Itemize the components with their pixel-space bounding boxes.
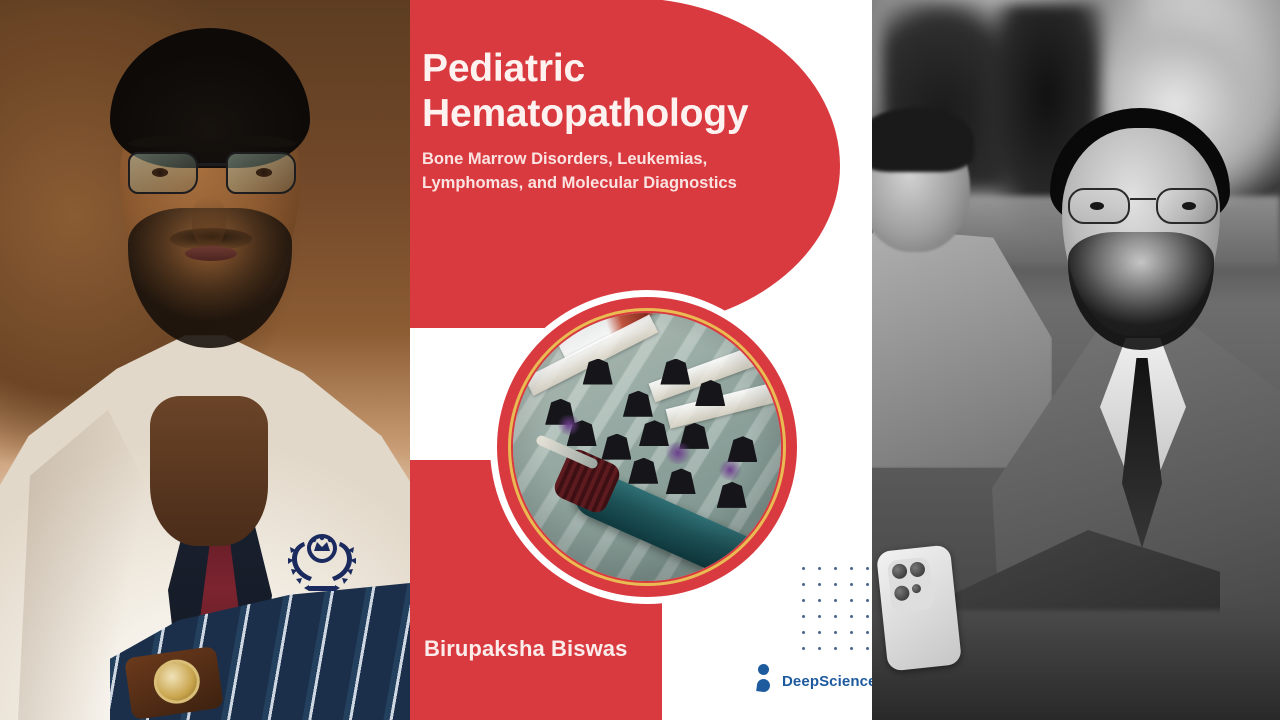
publisher-name: DeepScience: [782, 673, 876, 690]
glasses-bridge: [1130, 198, 1156, 200]
author-portrait-photo: [0, 0, 410, 720]
decorative-dot-grid: [795, 560, 875, 656]
publisher-logo: DeepScience: [757, 664, 876, 698]
nose: [192, 196, 226, 250]
eye-left: [1090, 202, 1104, 210]
collage-banner: Pediatric Hematopathology Bone Marrow Di…: [0, 0, 1280, 720]
book-subtitle: Bone Marrow Disorders, Leukemias, Lympho…: [422, 148, 794, 195]
neck: [150, 396, 268, 546]
cover-circular-image-frame: [497, 297, 797, 597]
book-subtitle-line-1: Bone Marrow Disorders, Leukemias,: [422, 148, 794, 171]
eyeglasses: [126, 152, 298, 196]
book-title-line-1: Pediatric: [422, 46, 794, 91]
deepscience-mark-icon: [757, 664, 773, 698]
second-man-hair: [872, 108, 974, 172]
book-subtitle-line-2: Lymphomas, and Molecular Diagnostics: [422, 172, 794, 195]
logo-comma-icon: [756, 678, 771, 693]
glasses-bridge: [198, 163, 228, 166]
eye-left: [152, 168, 168, 177]
book-author-name: Birupaksha Biswas: [424, 636, 627, 662]
author-conference-photo: [872, 0, 1280, 720]
image-vignette: [513, 313, 781, 581]
cover-circular-image: [513, 313, 781, 581]
cover-title-block: Pediatric Hematopathology Bone Marrow Di…: [422, 46, 794, 195]
wristwatch: [124, 646, 224, 720]
eye-right: [1182, 202, 1196, 210]
book-title-line-2: Hematopathology: [422, 91, 794, 136]
eye-right: [256, 168, 272, 177]
lips: [185, 246, 237, 261]
book-title: Pediatric Hematopathology: [422, 46, 794, 136]
camera-module-icon: [887, 557, 934, 613]
eyeglasses: [1068, 188, 1218, 226]
institution-crest-icon: [276, 520, 368, 604]
watch-dial: [151, 657, 203, 707]
smartphone: [876, 544, 962, 671]
logo-dot-icon: [758, 664, 769, 675]
